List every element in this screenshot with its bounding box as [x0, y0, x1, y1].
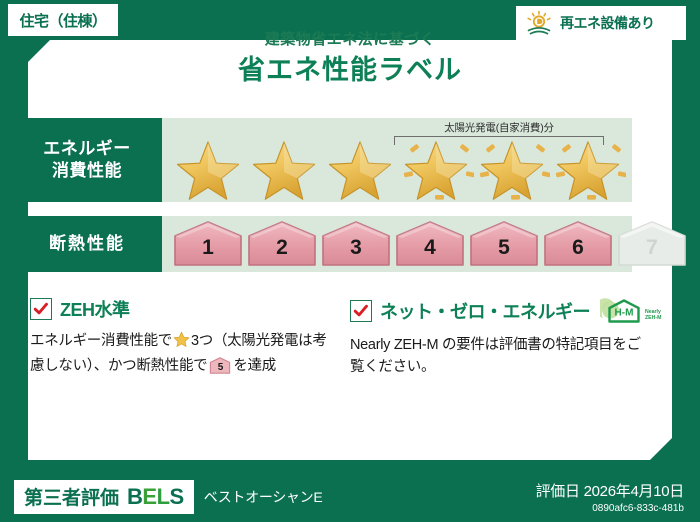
energy-performance-row: エネルギー 消費性能 太陽光発電(自家消費)分 — [12, 118, 632, 202]
bels-letter-b: B — [127, 484, 142, 509]
bels-letter-l: L — [157, 484, 170, 509]
evaluation-date-label: 評価日 — [536, 483, 580, 500]
evaluation-id: 0890afc6-833c-481b — [536, 503, 684, 514]
label-subtitle: 建築物省エネ法に基づく — [0, 28, 700, 49]
net-zero-energy-title: ネット・ゼロ・エネルギー — [380, 298, 590, 324]
insulation-performance-label-box: 断熱性能 — [12, 216, 162, 272]
star-rating — [162, 132, 632, 200]
zeh-standard-block: ZEH水準 エネルギー消費性能で3つ（太陽光発電は考慮しない）、かつ断熱性能で5… — [30, 296, 330, 378]
third-party-evaluation-label: 第三者評価 — [24, 483, 119, 510]
footer-left: 第三者評価 BELS ベストオーシャンE — [14, 480, 322, 514]
energy-performance-label-box: エネルギー 消費性能 — [12, 118, 162, 202]
zeh-desc-part3: を達成 — [233, 358, 276, 374]
insulation-grade-6: 6 — [542, 220, 614, 268]
star-2 — [246, 132, 322, 200]
insulation-label: 断熱性能 — [49, 233, 125, 255]
bels-certification-box: 第三者評価 BELS — [14, 480, 194, 514]
bels-logo: BELS — [127, 484, 184, 510]
insulation-grade-value: 4 — [424, 236, 436, 260]
evaluation-date-value: 2026年4月10日 — [584, 483, 684, 500]
zeh-standard-description: エネルギー消費性能で3つ（太陽光発電は考慮しない）、かつ断熱性能で5を達成 — [30, 330, 330, 378]
nearly-zeh-m-logo: H-M Nearly ZEH-M — [600, 296, 662, 326]
star-1 — [170, 132, 246, 200]
zeh-standard-title: ZEH水準 — [60, 296, 130, 322]
insulation-grade-value: 1 — [202, 236, 214, 260]
insulation-grade-7: 7 — [616, 220, 688, 268]
insulation-grade-value: 2 — [276, 236, 288, 260]
insulation-grade-scale: 1234567 — [162, 216, 632, 272]
star-3 — [322, 132, 398, 200]
svg-text:H-M: H-M — [615, 308, 634, 319]
svg-text:ZEH-M: ZEH-M — [645, 315, 661, 321]
star-5 — [474, 132, 550, 200]
footer-right: 評価日 2026年4月10日 0890afc6-833c-481b — [536, 480, 684, 514]
zeh-standard-checkbox — [30, 298, 52, 320]
inline-grade-value: 5 — [209, 360, 231, 376]
inline-star-icon — [173, 331, 190, 355]
insulation-grade-2: 2 — [246, 220, 318, 268]
star-4 — [398, 132, 474, 200]
energy-label-line1: エネルギー — [43, 138, 131, 160]
insulation-grades-area: 1234567 — [162, 216, 632, 272]
energy-label-line2: 消費性能 — [52, 160, 122, 182]
inline-insulation-grade-badge: 5 — [209, 357, 231, 374]
insulation-grade-3: 3 — [320, 220, 392, 268]
net-zero-energy-checkbox — [350, 300, 372, 322]
insulation-grade-value: 6 — [572, 236, 584, 260]
insulation-grade-4: 4 — [394, 220, 466, 268]
zeh-standard-heading: ZEH水準 — [30, 296, 330, 322]
page-title: 省エネ性能ラベル — [0, 48, 700, 87]
bels-letter-e: E — [142, 484, 156, 509]
net-zero-energy-block: ネット・ゼロ・エネルギー H-M Nearly ZEH-M Nearly ZEH… — [350, 296, 650, 379]
star-6 — [550, 132, 626, 200]
insulation-grade-value: 7 — [646, 236, 658, 260]
net-zero-energy-description: Nearly ZEH-M の要件は評価書の特記項目をご覧ください。 — [350, 334, 650, 379]
zeh-desc-part1: エネルギー消費性能で — [30, 333, 172, 349]
insulation-grade-1: 1 — [172, 220, 244, 268]
bels-letter-s: S — [170, 484, 184, 509]
owner-name: ベストオーシャンE — [204, 487, 323, 507]
insulation-grade-value: 5 — [498, 236, 510, 260]
insulation-grade-5: 5 — [468, 220, 540, 268]
evaluation-date: 評価日 2026年4月10日 — [536, 480, 684, 501]
energy-performance-label: 住宅（住棟） 再エネ設備あり 建築物省エネ法に基づく 省エネ性能ラベル — [0, 0, 700, 522]
energy-stars-area: 太陽光発電(自家消費)分 — [162, 118, 632, 202]
net-zero-energy-heading: ネット・ゼロ・エネルギー H-M Nearly ZEH-M — [350, 296, 650, 326]
insulation-performance-row: 断熱性能 1234567 — [12, 216, 632, 272]
insulation-grade-value: 3 — [350, 236, 362, 260]
